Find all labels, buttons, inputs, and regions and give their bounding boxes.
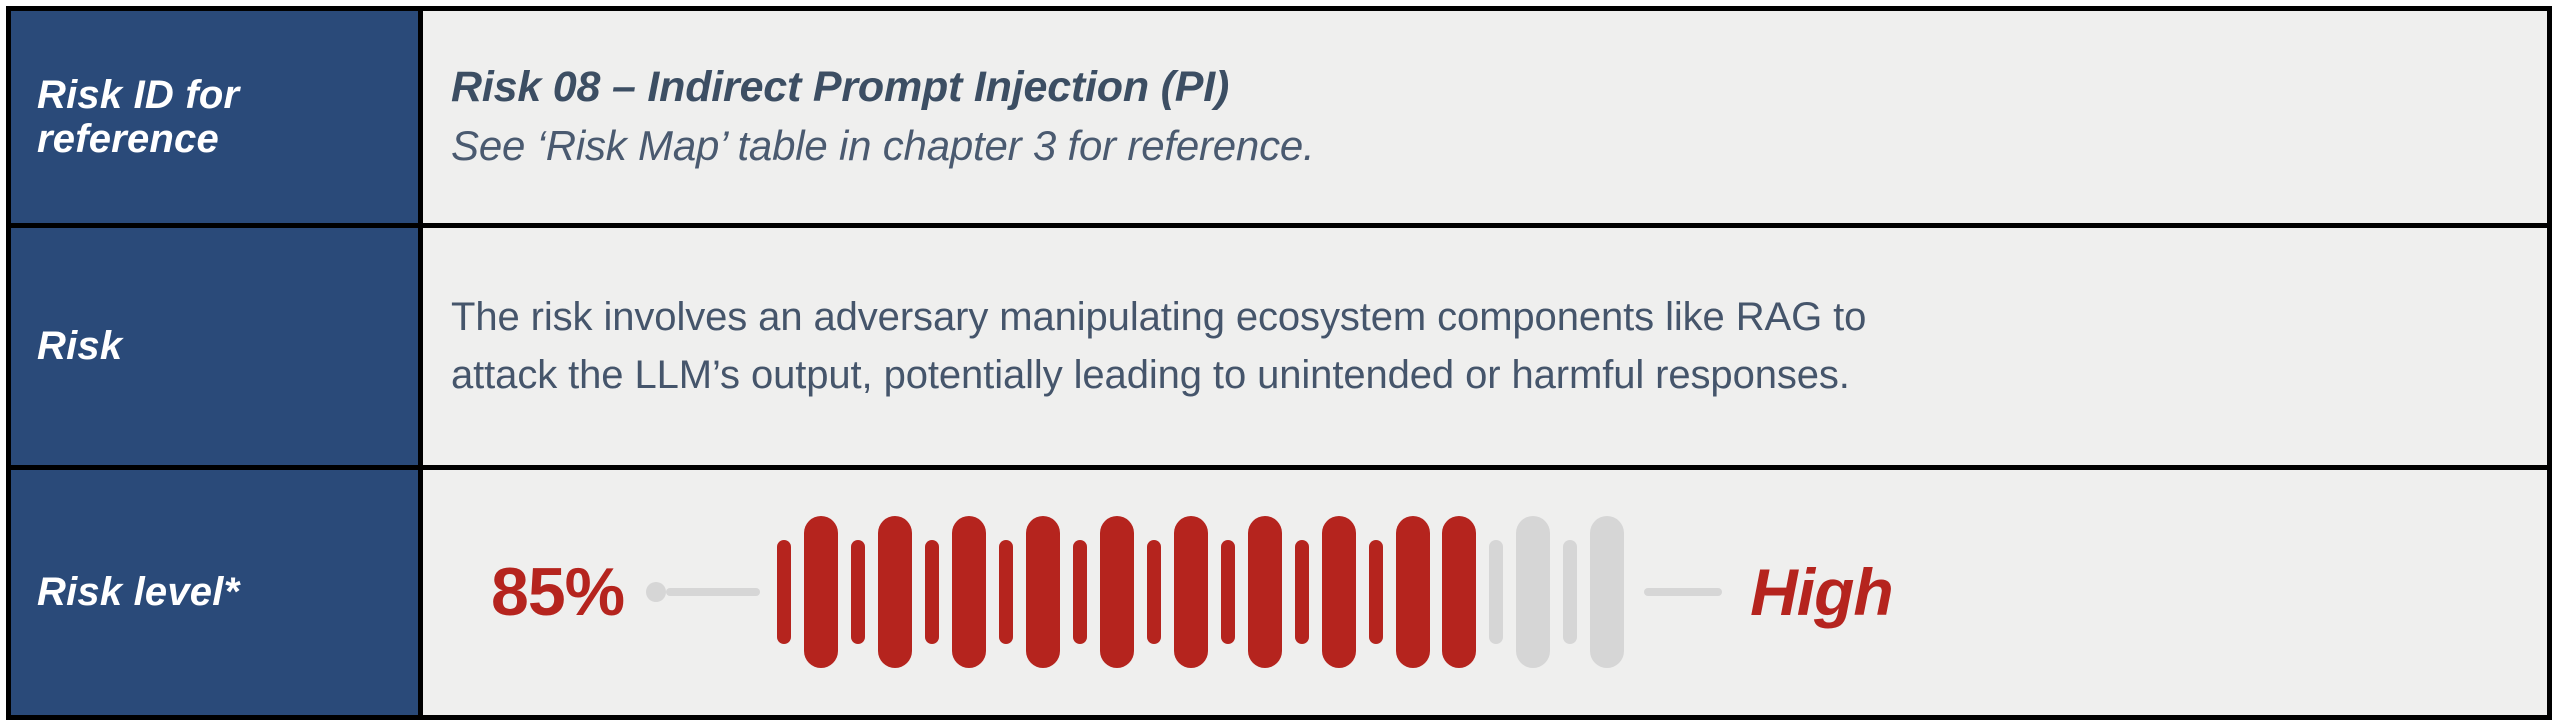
gauge-bar-segment bbox=[1516, 516, 1550, 668]
gauge-bar-segment bbox=[925, 540, 939, 644]
table-row-risk-id: Risk ID for reference Risk 08 – Indirect… bbox=[11, 11, 2547, 228]
gauge-bar-segment bbox=[1563, 540, 1577, 644]
risk-reference-note: See ‘Risk Map’ table in chapter 3 for re… bbox=[451, 119, 2519, 174]
gauge-bar-segment bbox=[1174, 516, 1208, 668]
risk-percent-value: 85% bbox=[491, 558, 624, 626]
gauge-bar-segment bbox=[1295, 540, 1309, 644]
risk-title: Risk 08 – Indirect Prompt Injection (PI) bbox=[451, 60, 2519, 115]
row-value-cell-risk-level: 85% High bbox=[423, 470, 2547, 715]
row-label-cell-risk-id: Risk ID for reference bbox=[11, 11, 423, 223]
gauge-bar-segment bbox=[952, 516, 986, 668]
risk-level-value: High bbox=[1750, 559, 1893, 625]
row-label-risk-id: Risk ID for reference bbox=[37, 73, 418, 161]
gauge-bar-track bbox=[770, 512, 1630, 672]
gauge-trail-line-icon bbox=[1644, 588, 1722, 596]
gauge-bar-segment bbox=[1442, 516, 1476, 668]
gauge-lead-line-icon bbox=[666, 588, 760, 596]
gauge-bar-segment bbox=[1221, 540, 1235, 644]
gauge-lead-dot-icon bbox=[646, 582, 666, 602]
row-value-cell-risk-id: Risk 08 – Indirect Prompt Injection (PI)… bbox=[423, 11, 2547, 223]
risk-description-line-1: The risk involves an adversary manipulat… bbox=[451, 288, 2519, 346]
gauge-bar-segment bbox=[1396, 516, 1430, 668]
gauge-bar-segment bbox=[999, 540, 1013, 644]
gauge-bar-segment bbox=[1248, 516, 1282, 668]
gauge-bar-segment bbox=[1026, 516, 1060, 668]
gauge-bar-segment bbox=[878, 516, 912, 668]
row-value-cell-risk: The risk involves an adversary manipulat… bbox=[423, 228, 2547, 465]
gauge-bar-segment bbox=[1322, 516, 1356, 668]
gauge-bar-segment bbox=[1369, 540, 1383, 644]
gauge-bar-segment bbox=[804, 516, 838, 668]
gauge-bar-segment bbox=[1590, 516, 1624, 668]
row-label-risk-level: Risk level* bbox=[37, 570, 239, 614]
gauge-bar-segment bbox=[1100, 516, 1134, 668]
gauge-bar-segment bbox=[851, 540, 865, 644]
gauge-bar-segment bbox=[1073, 540, 1087, 644]
table-row-risk: Risk The risk involves an adversary mani… bbox=[11, 228, 2547, 470]
row-label-cell-risk: Risk bbox=[11, 228, 423, 465]
gauge-bar-segment bbox=[1489, 540, 1503, 644]
gauge-bar-segment bbox=[777, 540, 791, 644]
risk-card: Risk ID for reference Risk 08 – Indirect… bbox=[6, 6, 2552, 720]
row-label-cell-risk-level: Risk level* bbox=[11, 470, 423, 715]
gauge-bar-segment bbox=[1147, 540, 1161, 644]
risk-description-line-2: attack the LLM’s output, potentially lea… bbox=[451, 346, 2519, 404]
row-label-risk: Risk bbox=[37, 324, 122, 368]
table-row-risk-level: Risk level* 85% High bbox=[11, 470, 2547, 715]
risk-level-gauge: 85% High bbox=[451, 470, 2519, 715]
